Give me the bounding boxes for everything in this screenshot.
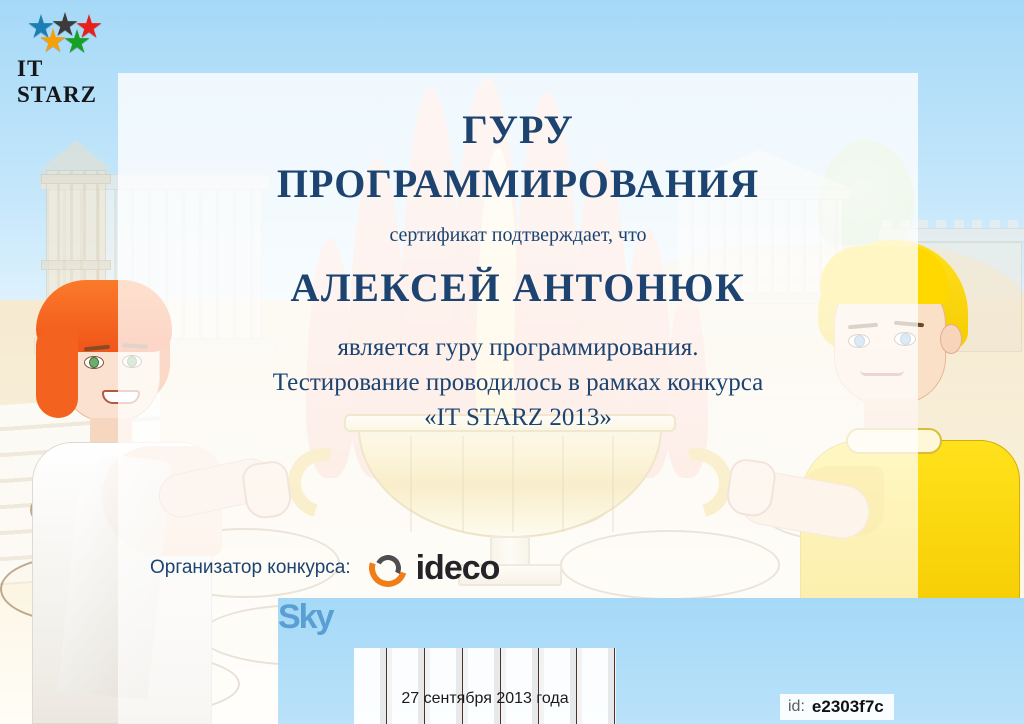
organizer-row: Организатор конкурса: ideco <box>150 548 670 588</box>
body-line-2: Тестирование проводилось в рамках конкур… <box>118 365 918 400</box>
id-badge: id: e2303f7c <box>780 694 894 720</box>
colonnade-illustration <box>354 648 616 724</box>
skydns-logo[interactable]: SkyDNS <box>824 602 890 641</box>
logo-stars <box>14 12 114 56</box>
logo-wordmark: IT STARZ <box>17 56 118 108</box>
partners-row: Партнеры: LINUX FORMAT Главное в мире Li… <box>278 598 918 644</box>
certificate-canvas: IT STARZ ГУРУ ПРОГРАММИРОВАНИЯ сертифика… <box>0 0 1024 724</box>
ideco-swirl-icon <box>369 549 407 587</box>
body-line-3: «IT STARZ 2013» <box>118 400 918 435</box>
recipient-name: АЛЕКСЕЙ АНТОНЮК <box>118 264 918 311</box>
ideco-wordmark: ideco <box>416 549 500 588</box>
ideco-logo[interactable]: ideco <box>369 549 500 588</box>
certificate-title-line2: ПРОГРАММИРОВАНИЯ <box>118 160 918 207</box>
body-line-1: является гуру программирования. <box>118 330 918 365</box>
certificate-body: является гуру программирования. Тестиров… <box>118 330 918 435</box>
it-starz-logo: IT STARZ <box>14 12 118 90</box>
id-badge-label: id: <box>788 698 805 716</box>
certificate-title-line1: ГУРУ <box>118 106 918 153</box>
certificate-date: 27 сентября 2013 года <box>330 690 640 708</box>
organizer-label: Организатор конкурса: <box>150 557 351 579</box>
certificate-subtitle: сертификат подтверждает, что <box>118 224 918 247</box>
id-badge-value: e2303f7c <box>812 697 884 717</box>
